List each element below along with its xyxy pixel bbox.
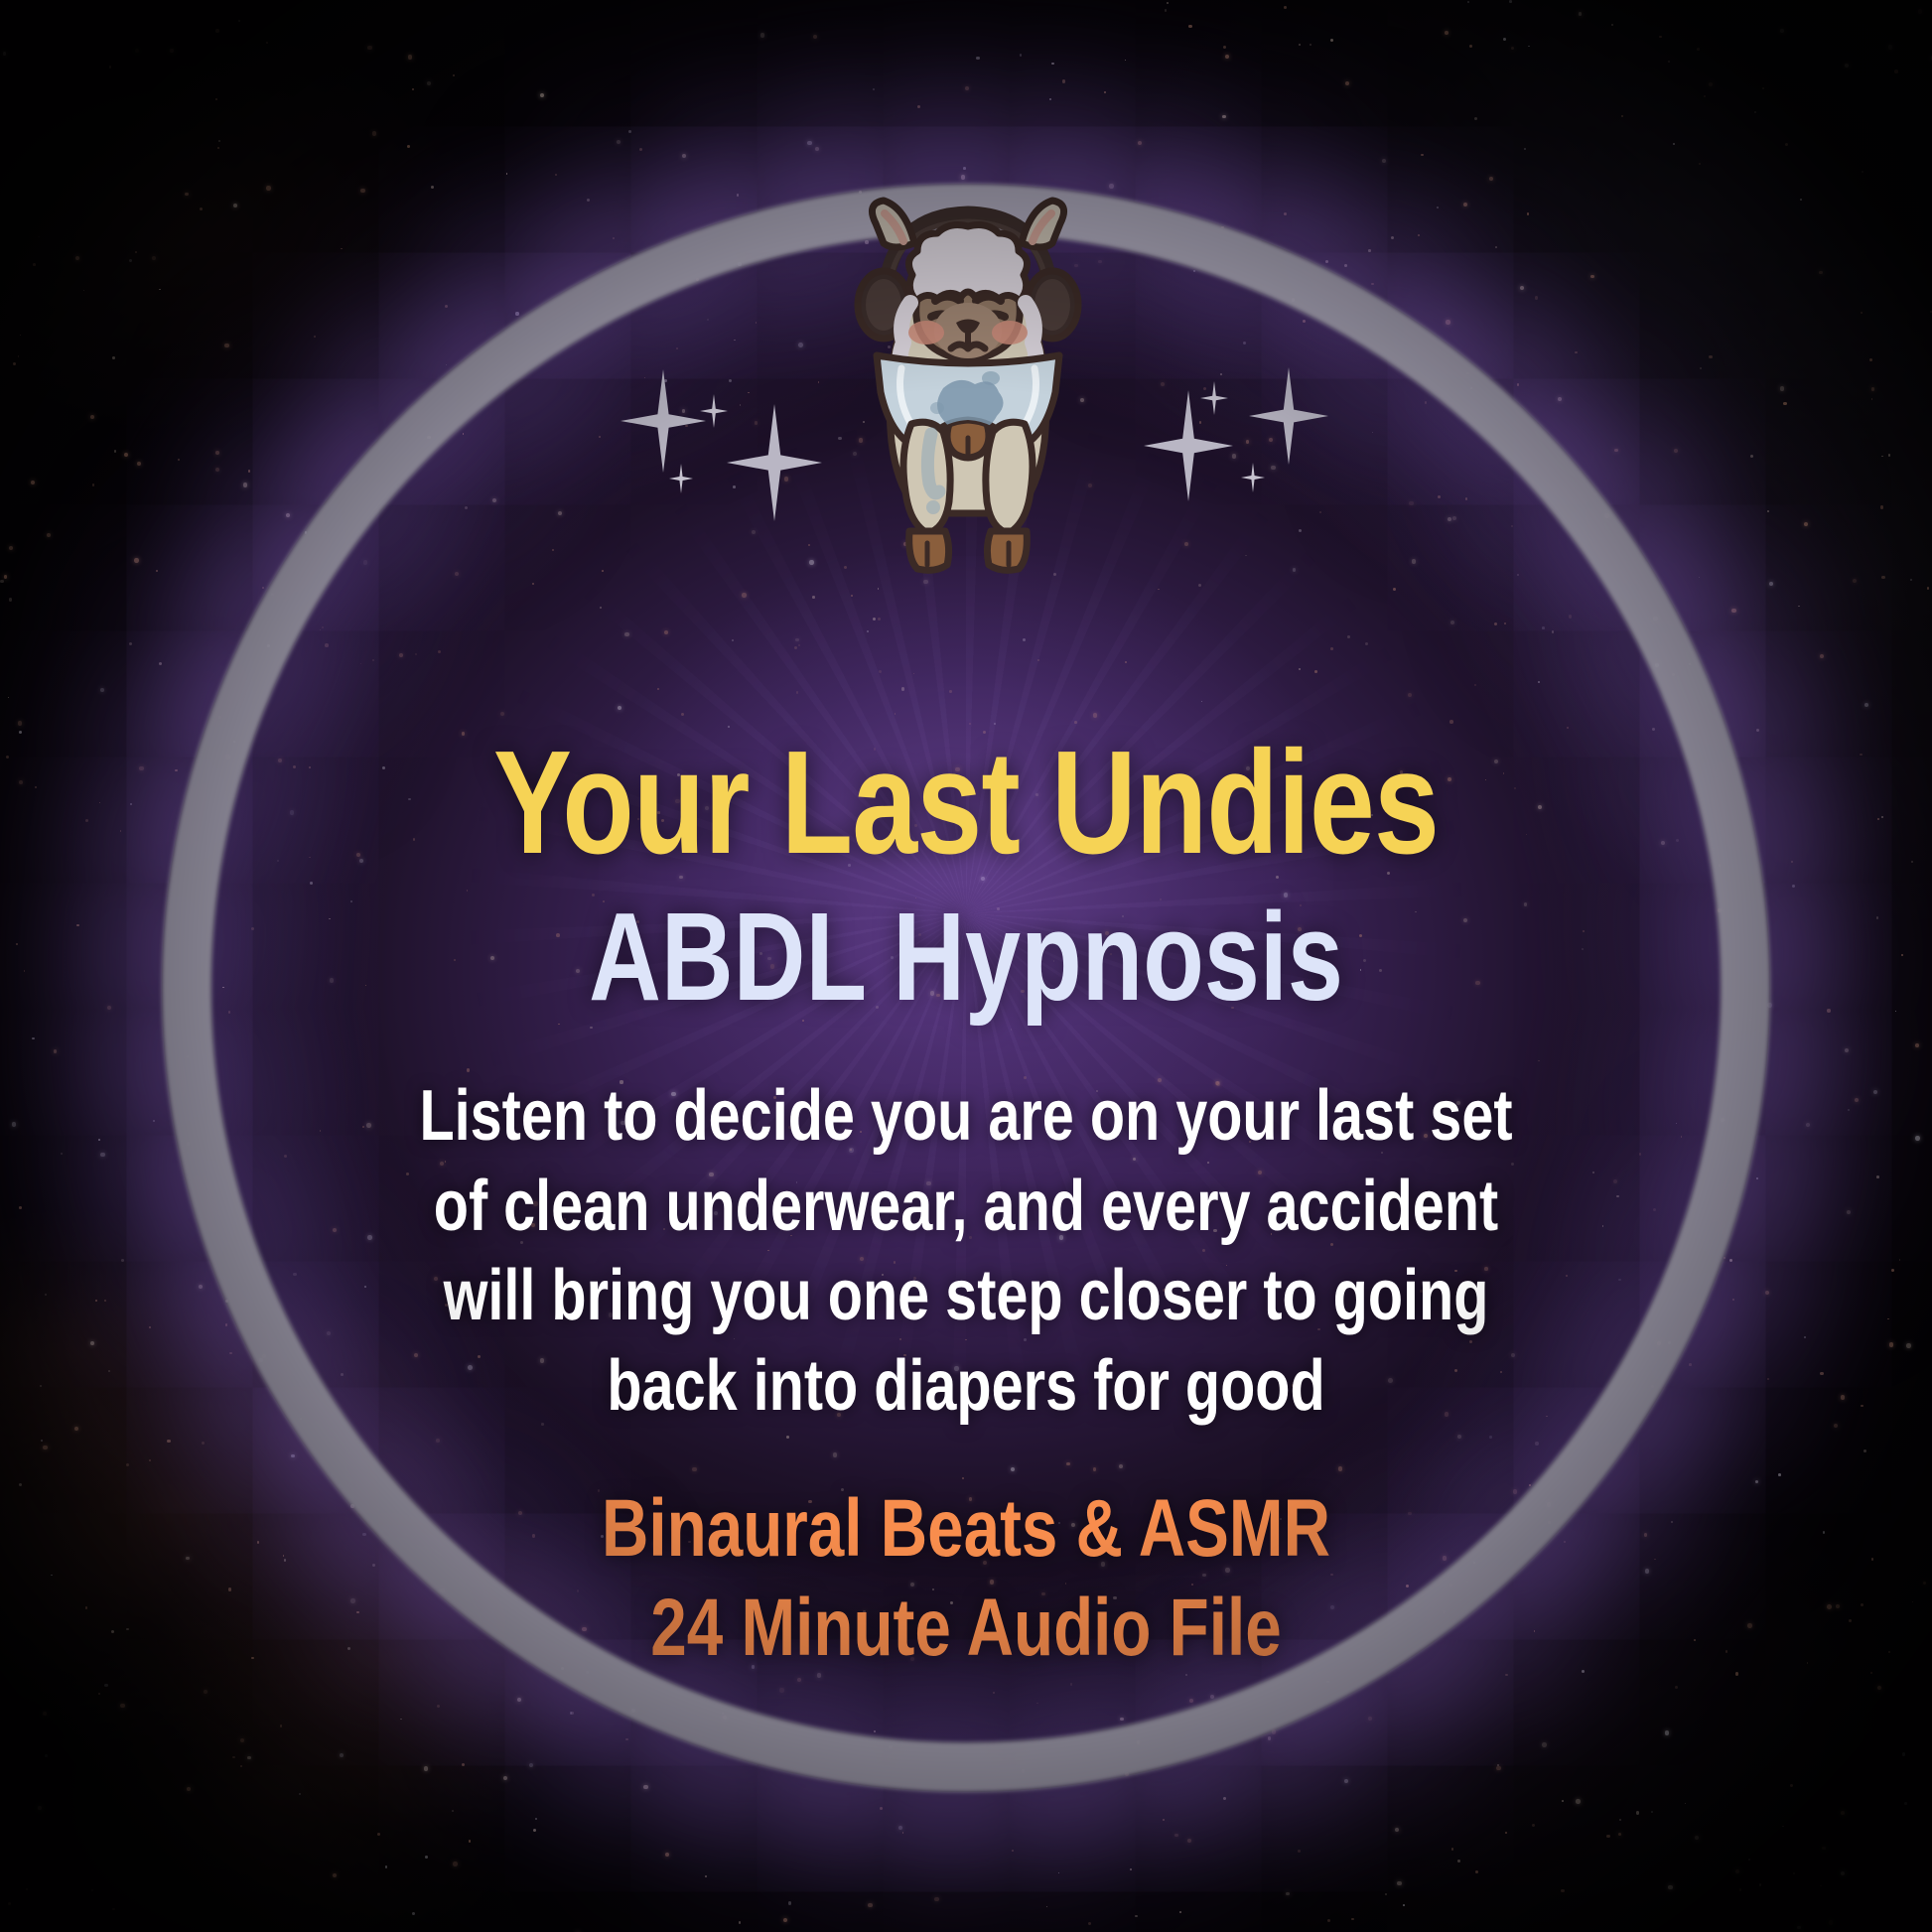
vignette-overlay: [0, 0, 1932, 1932]
promo-graphic: Your Last Undies ABDL Hypnosis Listen to…: [0, 0, 1932, 1932]
